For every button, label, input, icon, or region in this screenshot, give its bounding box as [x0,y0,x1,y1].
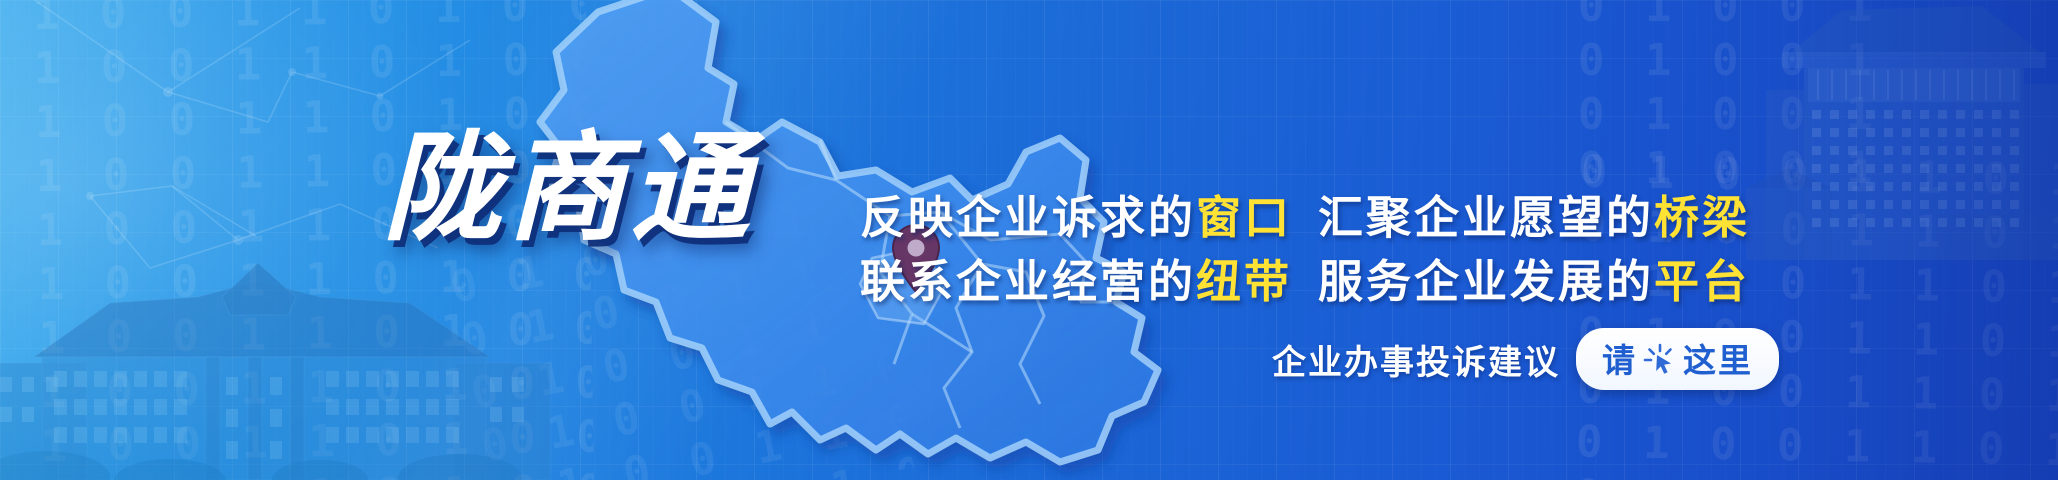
slogan-highlight: 窗口 [1196,192,1292,243]
slogan-segment: 反映企业诉求的 [860,192,1196,243]
slogan-block: 反映企业诉求的窗口汇聚企业愿望的桥梁 联系企业经营的纽带服务企业发展的平台 [860,186,1680,314]
brand-title: 陇商通 [383,126,755,253]
click-here-button[interactable]: 请 这里 [1576,328,1779,390]
banner-content: 陇商通 反映企业诉求的窗口汇聚企业愿望的桥梁 联系企业经营的纽带服务企业发展的平… [0,0,2058,480]
click-here-button-suffix: 这里 [1683,334,1753,382]
banner-root: 0 1 0 0 1 1 0 1 0 0 1 1 1 0 0 1 0 1 1 0 … [0,0,2058,480]
slogan-highlight: 平台 [1654,256,1750,307]
click-here-button-prefix: 请 [1602,334,1637,382]
cta-label: 企业办事投诉建议 [1272,335,1560,384]
slogan-line-2: 联系企业经营的纽带服务企业发展的平台 [860,250,1680,314]
slogan-segment: 汇聚企业愿望的 [1318,192,1654,243]
slogan-line-1: 反映企业诉求的窗口汇聚企业愿望的桥梁 [860,186,1680,250]
slogan-highlight: 桥梁 [1654,192,1750,243]
slogan-segment: 联系企业经营的 [860,256,1196,307]
slogan-highlight: 纽带 [1196,256,1292,307]
cta-row: 企业办事投诉建议 请 这里 [1272,328,1779,390]
click-cursor-icon [1643,343,1677,377]
slogan-segment: 服务企业发展的 [1318,256,1654,307]
